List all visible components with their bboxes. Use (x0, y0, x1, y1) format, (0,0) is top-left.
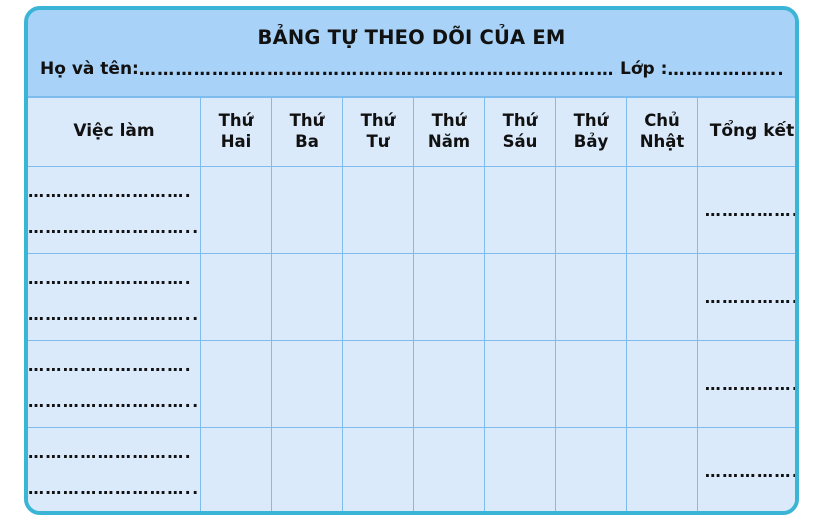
cell-saturday[interactable] (556, 341, 627, 428)
name-input-line[interactable]: ………………………………………………………………………………. (139, 60, 616, 80)
cell-total[interactable]: ……………. (698, 167, 800, 254)
cell-monday[interactable] (201, 167, 272, 254)
cell-wednesday[interactable] (343, 341, 414, 428)
column-header-monday-line2: Hai (201, 132, 271, 153)
identity-line: Họ và tên: ……………………………………………………………………………… (28, 48, 795, 79)
cell-sunday[interactable] (627, 167, 698, 254)
column-header-friday: Thứ Sáu (485, 97, 556, 167)
cell-tuesday[interactable] (272, 341, 343, 428)
column-header-task-label: Việc làm (73, 121, 154, 141)
column-header-thursday: Thứ Năm (414, 97, 485, 167)
column-header-saturday: Thứ Bảy (556, 97, 627, 167)
column-header-tuesday: Thứ Ba (272, 97, 343, 167)
table-header: Việc làm Thứ Hai Thứ Ba Thứ Tư Thứ Năm (28, 97, 799, 167)
cell-thursday[interactable] (414, 167, 485, 254)
cell-friday[interactable] (485, 428, 556, 515)
cell-monday[interactable] (201, 254, 272, 341)
column-header-monday: Thứ Hai (201, 97, 272, 167)
cell-tuesday[interactable] (272, 254, 343, 341)
column-header-wednesday-line1: Thứ (343, 111, 413, 132)
total-write-line[interactable]: ……………. (705, 201, 799, 220)
cell-friday[interactable] (485, 167, 556, 254)
column-header-sunday: Chủ Nhật (627, 97, 698, 167)
total-write-line[interactable]: ……………. (705, 288, 799, 307)
column-header-friday-line1: Thứ (485, 111, 555, 132)
table-row: ………………………. ……………………….. ……………. (28, 341, 799, 428)
total-write-line[interactable]: ……………. (705, 375, 799, 394)
cell-total[interactable]: ……………. (698, 428, 800, 515)
cell-sunday[interactable] (627, 428, 698, 515)
table-row: ………………………. ……………………….. ……………. (28, 428, 799, 515)
task-write-line-2[interactable]: ……………………….. (28, 307, 200, 324)
column-header-tuesday-line1: Thứ (272, 111, 342, 132)
cell-saturday[interactable] (556, 167, 627, 254)
column-header-sunday-line1: Chủ (627, 111, 697, 132)
table-row: ………………………. ……………………….. ……………. (28, 167, 799, 254)
tracker-card: BẢNG TỰ THEO DÕI CỦA EM Họ và tên: ……………… (24, 6, 799, 515)
total-write-line[interactable]: ……………. (705, 462, 799, 481)
worksheet-header: BẢNG TỰ THEO DÕI CỦA EM Họ và tên: ……………… (28, 10, 795, 96)
cell-friday[interactable] (485, 254, 556, 341)
cell-task[interactable]: ………………………. ……………………….. (28, 428, 201, 515)
cell-task[interactable]: ………………………. ……………………….. (28, 167, 201, 254)
column-header-wednesday-line2: Tư (343, 132, 413, 153)
task-write-line-1[interactable]: ………………………. (28, 271, 200, 288)
table-body: ………………………. ……………………….. ……………. ……………………….… (28, 167, 799, 515)
table-row: ………………………. ……………………….. ……………. (28, 254, 799, 341)
column-header-monday-line1: Thứ (201, 111, 271, 132)
cell-wednesday[interactable] (343, 254, 414, 341)
cell-saturday[interactable] (556, 428, 627, 515)
task-write-line-1[interactable]: ………………………. (28, 445, 200, 462)
cell-sunday[interactable] (627, 341, 698, 428)
cell-tuesday[interactable] (272, 428, 343, 515)
column-header-task: Việc làm (28, 97, 201, 167)
cell-tuesday[interactable] (272, 167, 343, 254)
cell-wednesday[interactable] (343, 167, 414, 254)
class-input-line[interactable]: ………………. (667, 60, 785, 80)
task-write-line-1[interactable]: ………………………. (28, 184, 200, 201)
column-header-thursday-line1: Thứ (414, 111, 484, 132)
column-header-wednesday: Thứ Tư (343, 97, 414, 167)
self-tracking-table: Việc làm Thứ Hai Thứ Ba Thứ Tư Thứ Năm (28, 96, 799, 515)
task-write-line-2[interactable]: ……………………….. (28, 220, 200, 237)
cell-task[interactable]: ………………………. ……………………….. (28, 254, 201, 341)
cell-thursday[interactable] (414, 341, 485, 428)
cell-task[interactable]: ………………………. ……………………….. (28, 341, 201, 428)
column-header-friday-line2: Sáu (485, 132, 555, 153)
cell-friday[interactable] (485, 341, 556, 428)
cell-total[interactable]: ……………. (698, 254, 800, 341)
column-header-tuesday-line2: Ba (272, 132, 342, 153)
cell-monday[interactable] (201, 341, 272, 428)
cell-thursday[interactable] (414, 254, 485, 341)
name-label: Họ và tên: (40, 59, 139, 79)
column-header-total: Tổng kết (698, 97, 800, 167)
page-title: BẢNG TỰ THEO DÕI CỦA EM (28, 10, 795, 48)
class-label: Lớp : (616, 59, 667, 79)
cell-wednesday[interactable] (343, 428, 414, 515)
column-header-sunday-line2: Nhật (627, 132, 697, 153)
column-header-saturday-line1: Thứ (556, 111, 626, 132)
cell-total[interactable]: ……………. (698, 341, 800, 428)
column-header-thursday-line2: Năm (414, 132, 484, 153)
column-header-saturday-line2: Bảy (556, 132, 626, 153)
cell-sunday[interactable] (627, 254, 698, 341)
cell-saturday[interactable] (556, 254, 627, 341)
task-write-line-1[interactable]: ………………………. (28, 358, 200, 375)
task-write-line-2[interactable]: ……………………….. (28, 481, 200, 498)
task-write-line-2[interactable]: ……………………….. (28, 394, 200, 411)
table-header-row: Việc làm Thứ Hai Thứ Ba Thứ Tư Thứ Năm (28, 97, 799, 167)
column-header-total-label: Tổng kết (710, 121, 794, 141)
cell-monday[interactable] (201, 428, 272, 515)
cell-thursday[interactable] (414, 428, 485, 515)
